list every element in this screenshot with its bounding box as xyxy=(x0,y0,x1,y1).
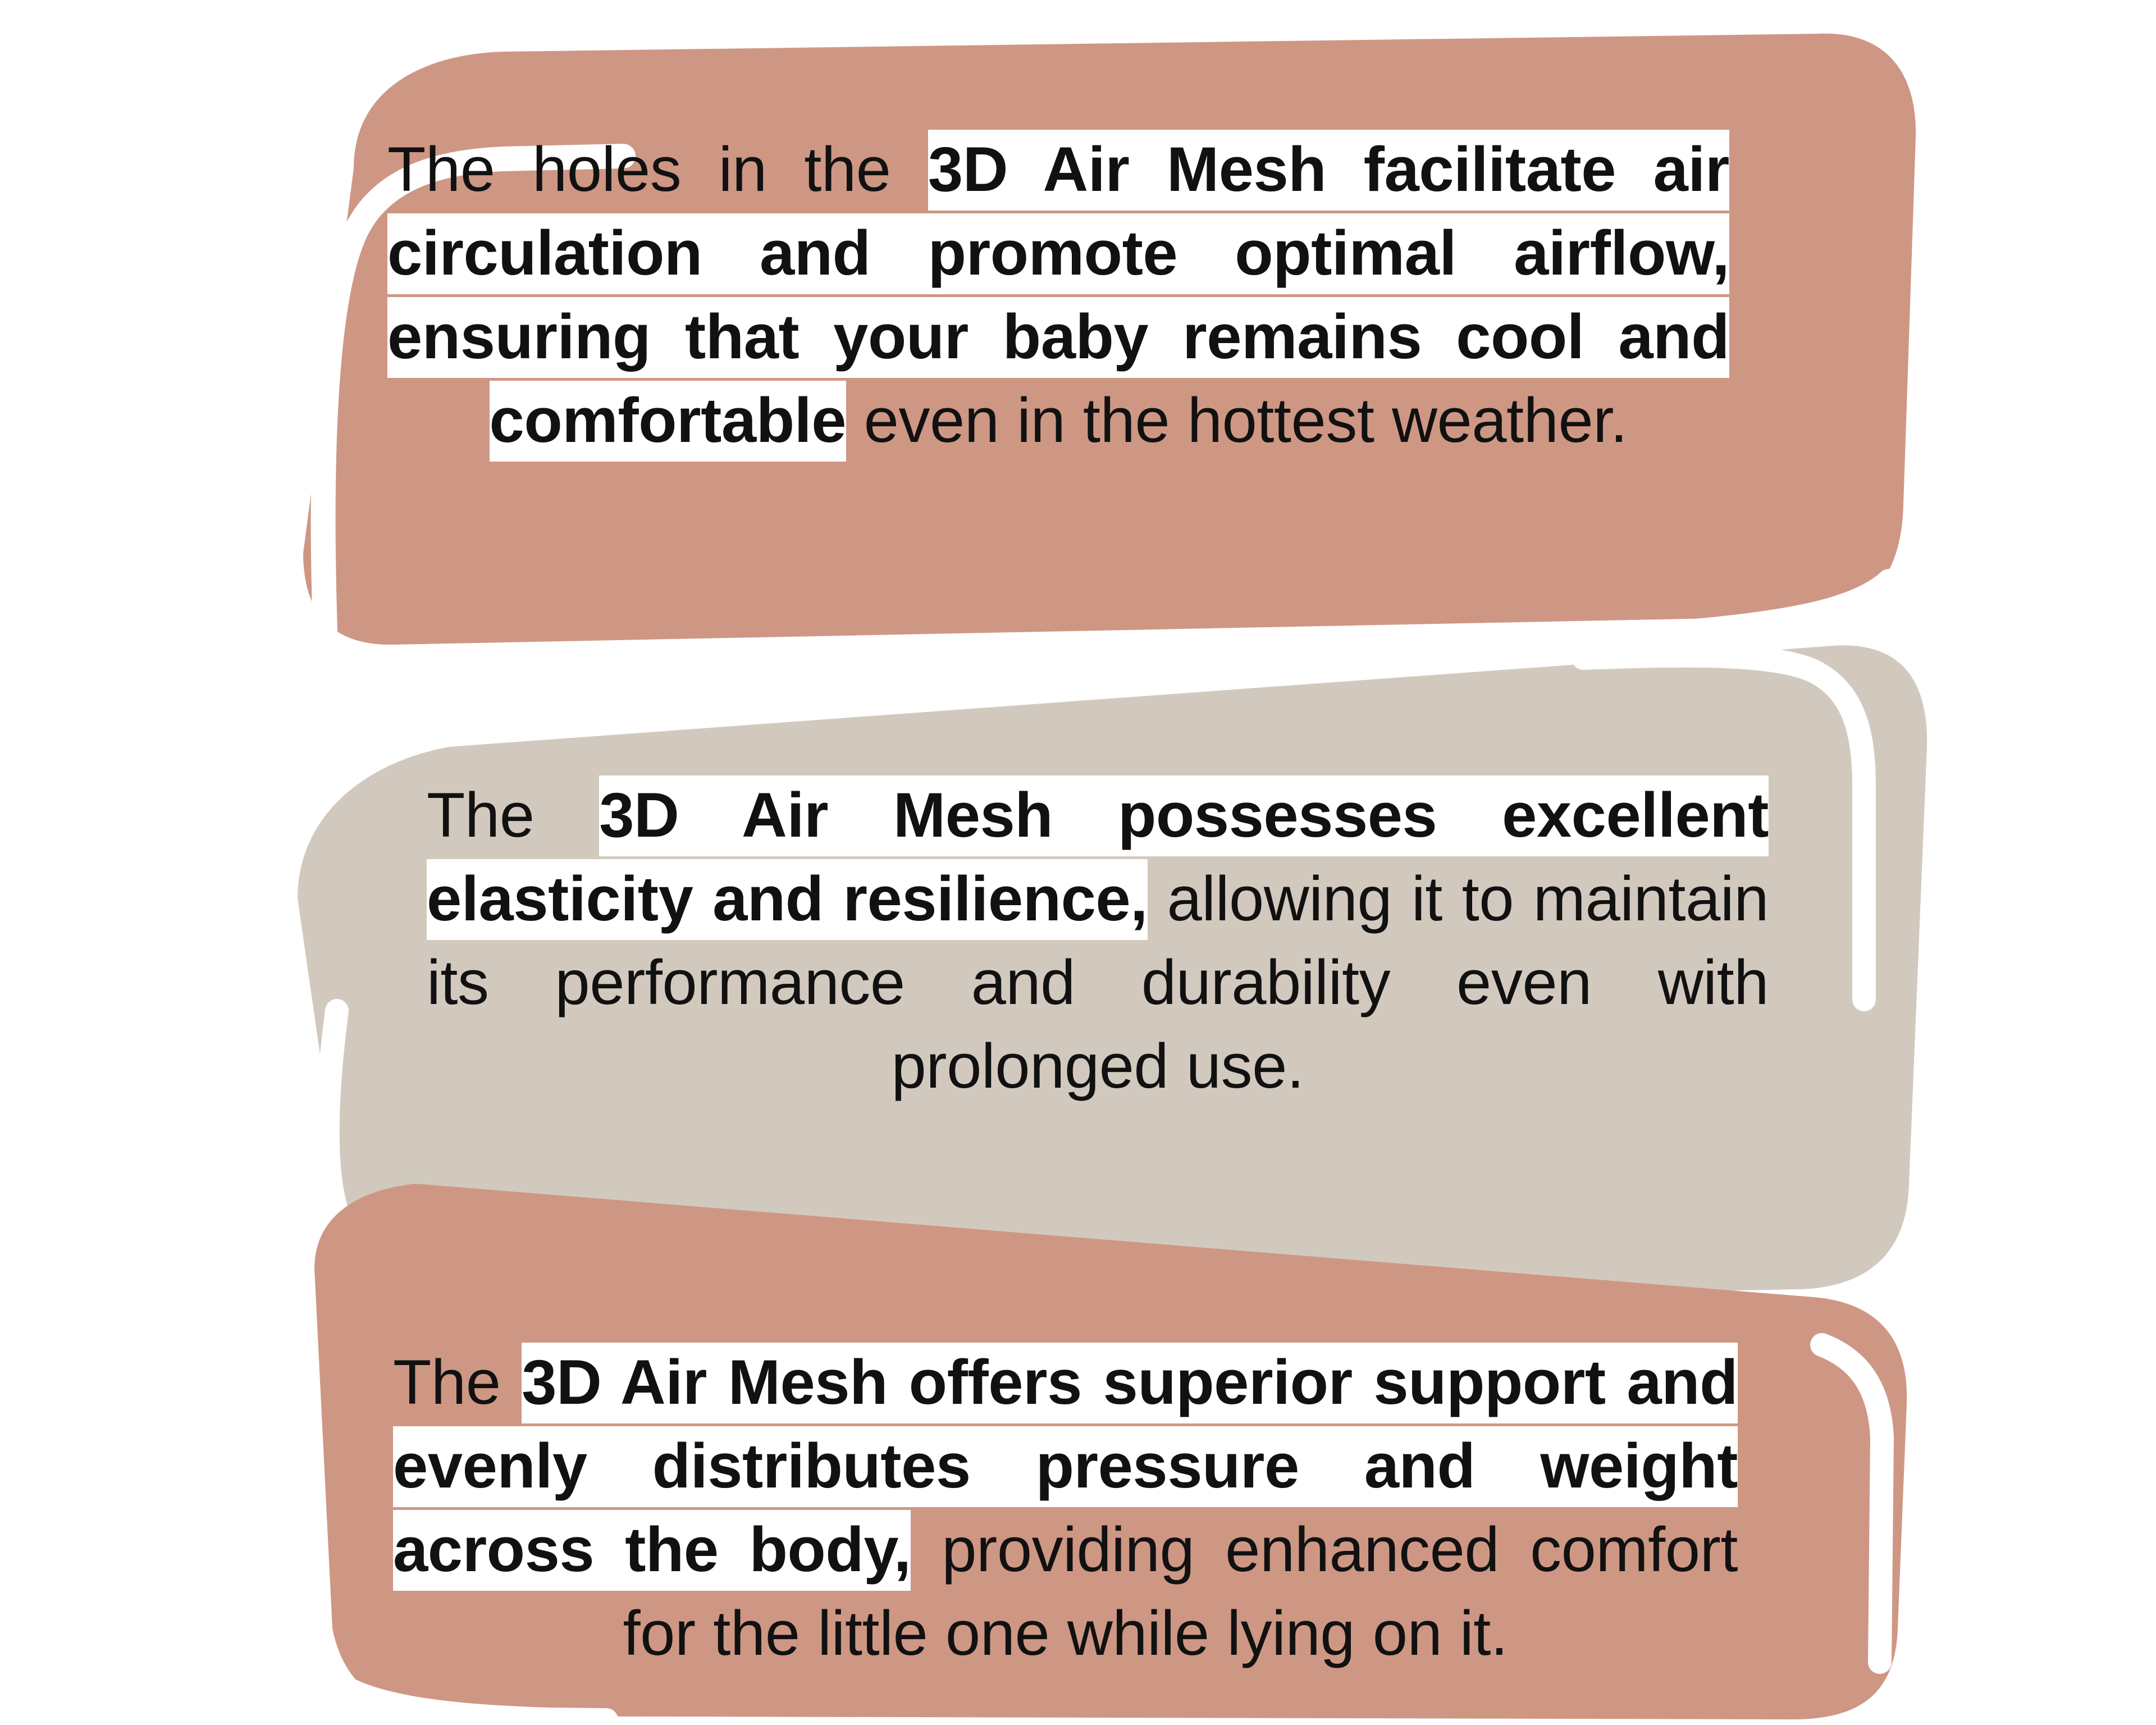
card-1-segment-plain-1: The holes in the xyxy=(387,134,928,204)
card-3-text-block: The 3D Air Mesh offers superior support … xyxy=(393,1341,1738,1676)
card-1-text-block: The holes in the 3D Air Mesh facilitate … xyxy=(387,128,1729,463)
card-2-segment-plain-1: The xyxy=(427,780,599,850)
card-3-segment-plain-1: The xyxy=(393,1347,522,1417)
card-1-segment-plain-2: even in the hottest weather. xyxy=(846,385,1627,455)
card-2-text-block: The 3D Air Mesh possesses excellent elas… xyxy=(427,774,1769,1108)
infographic-canvas: The holes in the 3D Air Mesh facilitate … xyxy=(0,0,2156,1725)
